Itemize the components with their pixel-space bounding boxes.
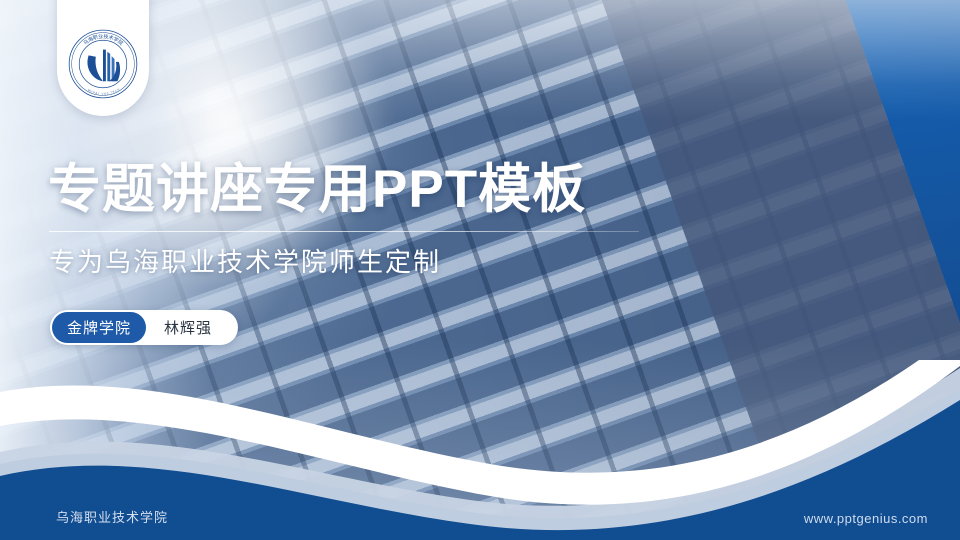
badge-group: 金牌学院 林辉强 xyxy=(50,310,238,345)
svg-text:I: I xyxy=(98,91,100,95)
logo-panel: 乌 海 职 业 技 术 学 院 W U H A I V O C T E xyxy=(57,0,149,116)
badge-gold-college[interactable]: 金牌学院 xyxy=(52,312,146,343)
slide-title: 专题讲座专用PPT模板 xyxy=(48,160,586,219)
title-divider xyxy=(49,231,639,232)
college-seal-icon: 乌 海 职 业 技 术 学 院 W U H A I V O C T E xyxy=(67,28,139,100)
presentation-slide: 乌 海 职 业 技 术 学 院 W U H A I V O C T E xyxy=(0,0,960,540)
svg-text:A: A xyxy=(95,91,98,95)
footer-website[interactable]: www.pptgenius.com xyxy=(804,511,928,526)
svg-text:C: C xyxy=(106,91,109,95)
badge-author-name[interactable]: 林辉强 xyxy=(148,317,234,338)
slide-subtitle: 专为乌海职业技术学院师生定制 xyxy=(49,246,441,279)
footer-institution: 乌海职业技术学院 xyxy=(56,507,168,526)
